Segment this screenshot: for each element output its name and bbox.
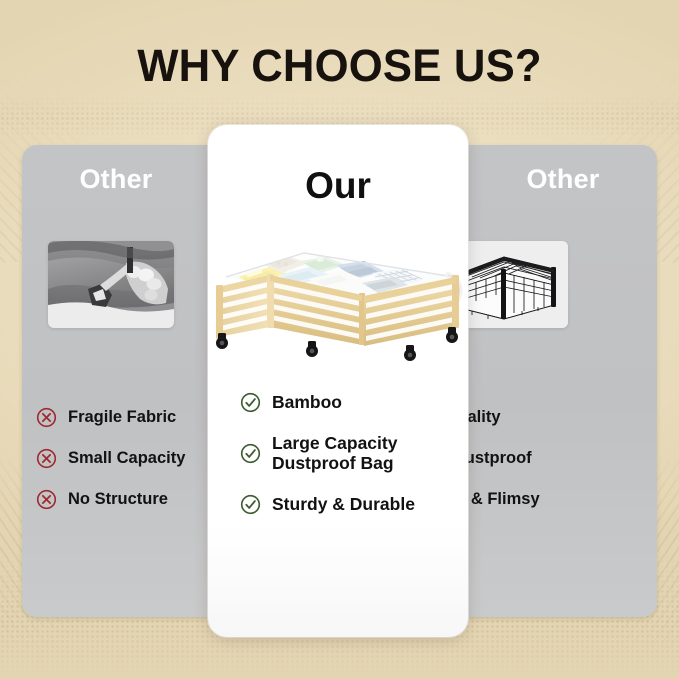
card-feature-list: Bamboo Large Capacity Dustproof Bag Stur… xyxy=(208,380,468,526)
product-image xyxy=(212,231,464,367)
list-item-label-line2: Dustproof Bag xyxy=(272,453,397,473)
fragile-fabric-bag-photo xyxy=(48,241,174,328)
list-item-label: Fragile Fabric xyxy=(68,408,176,427)
card-title: Our xyxy=(208,165,468,207)
list-item: Large Capacity Dustproof Bag xyxy=(240,424,468,482)
check-circle-icon xyxy=(240,392,261,413)
list-item: Sturdy & Durable xyxy=(240,482,468,526)
list-item-label: Bamboo xyxy=(272,392,342,412)
cross-circle-icon xyxy=(36,448,57,469)
check-circle-icon xyxy=(240,494,261,515)
left-panel-image xyxy=(48,241,174,328)
list-item-label: Small Capacity xyxy=(68,449,185,468)
bamboo-underbed-storage-product-photo xyxy=(212,231,464,367)
list-item-label-line1: Large Capacity xyxy=(272,433,397,453)
comparison-card-our: Our xyxy=(208,125,468,637)
page-title: WHY CHOOSE US? xyxy=(10,40,669,92)
list-item: Bamboo xyxy=(240,380,468,424)
cross-circle-icon xyxy=(36,407,57,428)
cross-circle-icon xyxy=(36,489,57,510)
check-circle-icon xyxy=(240,443,261,464)
list-item-label: Sturdy & Durable xyxy=(272,494,415,514)
list-item-label: No Structure xyxy=(68,490,168,509)
